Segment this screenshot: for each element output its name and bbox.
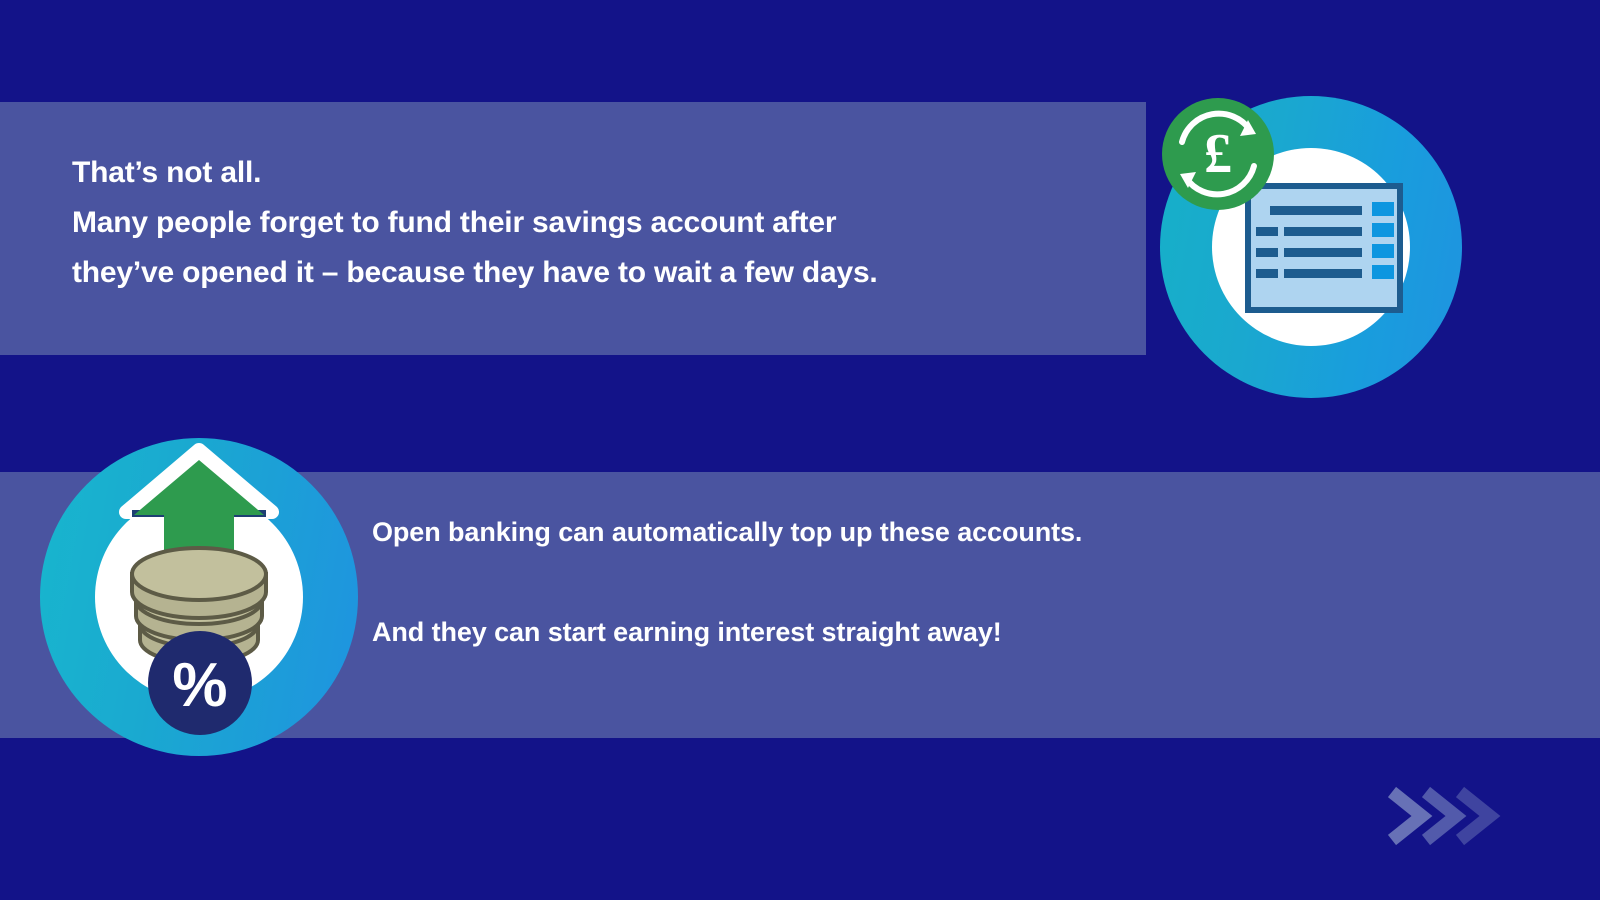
- top-body-line-1: Many people forget to fund their savings…: [72, 198, 1132, 248]
- slide-canvas: That’s not all. Many people forget to fu…: [0, 0, 1600, 900]
- pound-symbol: £: [1204, 123, 1232, 185]
- recurring-payment-badge: £: [1160, 96, 1462, 398]
- bottom-text-block: Open banking can automatically top up th…: [372, 508, 1472, 656]
- text-spacer: [372, 556, 1472, 608]
- top-heading: That’s not all.: [72, 148, 1132, 198]
- bottom-body-line-1: Open banking can automatically top up th…: [372, 508, 1472, 556]
- bottom-body-line-2: And they can start earning interest stra…: [372, 608, 1472, 656]
- forward-chevrons-decoration: [1382, 780, 1504, 852]
- interest-rate-badge: %: [40, 438, 358, 756]
- percent-symbol: %: [172, 651, 227, 720]
- top-body-line-2: they’ve opened it – because they have to…: [72, 248, 1132, 298]
- account-statement-icon: £: [1160, 96, 1462, 398]
- chevron-right-icon-1: [1392, 792, 1422, 840]
- top-text-block: That’s not all. Many people forget to fu…: [72, 148, 1132, 298]
- growing-savings-icon: %: [40, 438, 358, 756]
